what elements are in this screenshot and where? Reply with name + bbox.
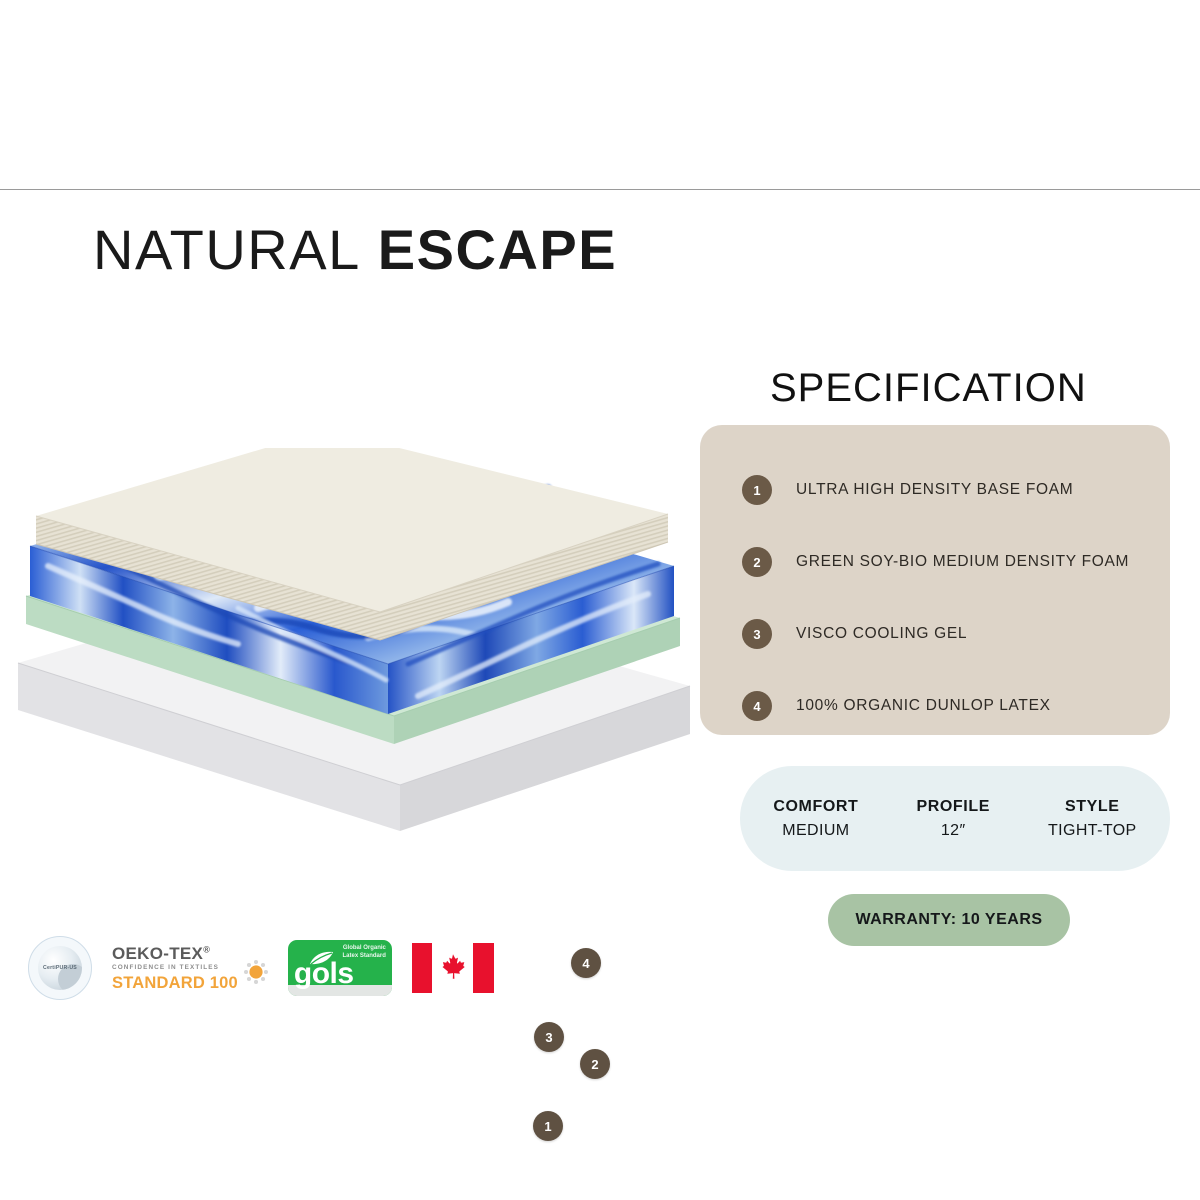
- page-title: NATURAL ESCAPE: [93, 222, 617, 278]
- spec-item-2: 2 GREEN SOY-BIO MEDIUM DENSITY FOAM: [742, 547, 1162, 577]
- attribute-comfort: COMFORT MEDIUM: [773, 795, 858, 843]
- attribute-comfort-value: MEDIUM: [773, 819, 858, 843]
- spec-label-4: 100% ORGANIC DUNLOP LATEX: [796, 697, 1051, 715]
- gols-badge: Global Organic Latex Standard gols: [288, 940, 392, 996]
- attribute-style-value: TIGHT-TOP: [1048, 819, 1137, 843]
- oeko-tex-tagline: CONFIDENCE IN TEXTILES: [112, 965, 238, 971]
- title-light-word: NATURAL: [93, 218, 361, 281]
- diagram-badge-1[interactable]: 1: [533, 1111, 563, 1141]
- certification-logos: CertiPUR-US OEKO-TEX® CONFIDENCE IN TEXT…: [28, 936, 494, 1000]
- canada-flag: [412, 936, 494, 1000]
- spec-label-3: VISCO COOLING GEL: [796, 625, 967, 643]
- certipur-label: CertiPUR-US: [43, 965, 77, 971]
- attribute-profile-key: PROFILE: [916, 795, 990, 819]
- spec-item-3: 3 VISCO COOLING GEL: [742, 619, 1162, 649]
- product-spec-sheet: NATURAL ESCAPE: [0, 0, 1200, 1200]
- certipur-us-logo: CertiPUR-US: [28, 936, 92, 1000]
- attribute-comfort-key: COMFORT: [773, 795, 858, 819]
- canada-flag-graphic: [412, 943, 494, 993]
- attribute-profile-value: 12″: [916, 819, 990, 843]
- spec-item-1: 1 ULTRA HIGH DENSITY BASE FOAM: [742, 475, 1162, 505]
- spec-badge-2: 2: [742, 547, 772, 577]
- spec-badge-4: 4: [742, 691, 772, 721]
- attribute-style-key: STYLE: [1048, 795, 1137, 819]
- diagram-badge-4[interactable]: 4: [571, 948, 601, 978]
- oeko-tex-standard: STANDARD 100: [112, 975, 238, 992]
- attributes-pill: COMFORT MEDIUM PROFILE 12″ STYLE TIGHT-T…: [740, 766, 1170, 871]
- diagram-badge-3[interactable]: 3: [534, 1022, 564, 1052]
- gols-logo: Global Organic Latex Standard gols: [288, 936, 392, 1000]
- spec-badge-3: 3: [742, 619, 772, 649]
- maple-leaf-icon: [437, 952, 469, 984]
- mattress-layer-diagram: 4 3 2 1: [8, 448, 698, 838]
- flag-bar-right: [473, 943, 494, 993]
- diagram-badge-2[interactable]: 2: [580, 1049, 610, 1079]
- oeko-tex-wordmark: OEKO-TEX®: [112, 945, 238, 962]
- certipur-inner-circle: CertiPUR-US: [38, 946, 82, 990]
- attribute-style: STYLE TIGHT-TOP: [1048, 795, 1137, 843]
- spec-item-4: 4 100% ORGANIC DUNLOP LATEX: [742, 691, 1162, 721]
- spec-badge-1: 1: [742, 475, 772, 505]
- certipur-circle: CertiPUR-US: [28, 936, 92, 1000]
- oeko-tex-text-stack: OEKO-TEX® CONFIDENCE IN TEXTILES STANDAR…: [112, 945, 238, 992]
- header-divider: [0, 189, 1200, 190]
- gols-subtitle-line1: Global Organic: [343, 945, 386, 953]
- diagram-canvas: [8, 448, 698, 838]
- title-bold-word: ESCAPE: [378, 218, 617, 281]
- sunburst-icon: [244, 960, 268, 984]
- specification-list: 1 ULTRA HIGH DENSITY BASE FOAM 2 GREEN S…: [742, 475, 1162, 721]
- warranty-badge: WARRANTY: 10 YEARS: [828, 894, 1070, 946]
- spec-label-2: GREEN SOY-BIO MEDIUM DENSITY FOAM: [796, 553, 1129, 571]
- spec-label-1: ULTRA HIGH DENSITY BASE FOAM: [796, 481, 1073, 499]
- oeko-tex-logo: OEKO-TEX® CONFIDENCE IN TEXTILES STANDAR…: [112, 936, 268, 1000]
- gols-wordmark: gols: [294, 959, 354, 989]
- specification-heading: SPECIFICATION: [770, 366, 1087, 411]
- registered-icon: ®: [203, 944, 210, 954]
- flag-bar-left: [412, 943, 433, 993]
- oeko-tex-name: OEKO-TEX: [112, 944, 203, 963]
- attribute-profile: PROFILE 12″: [916, 795, 990, 843]
